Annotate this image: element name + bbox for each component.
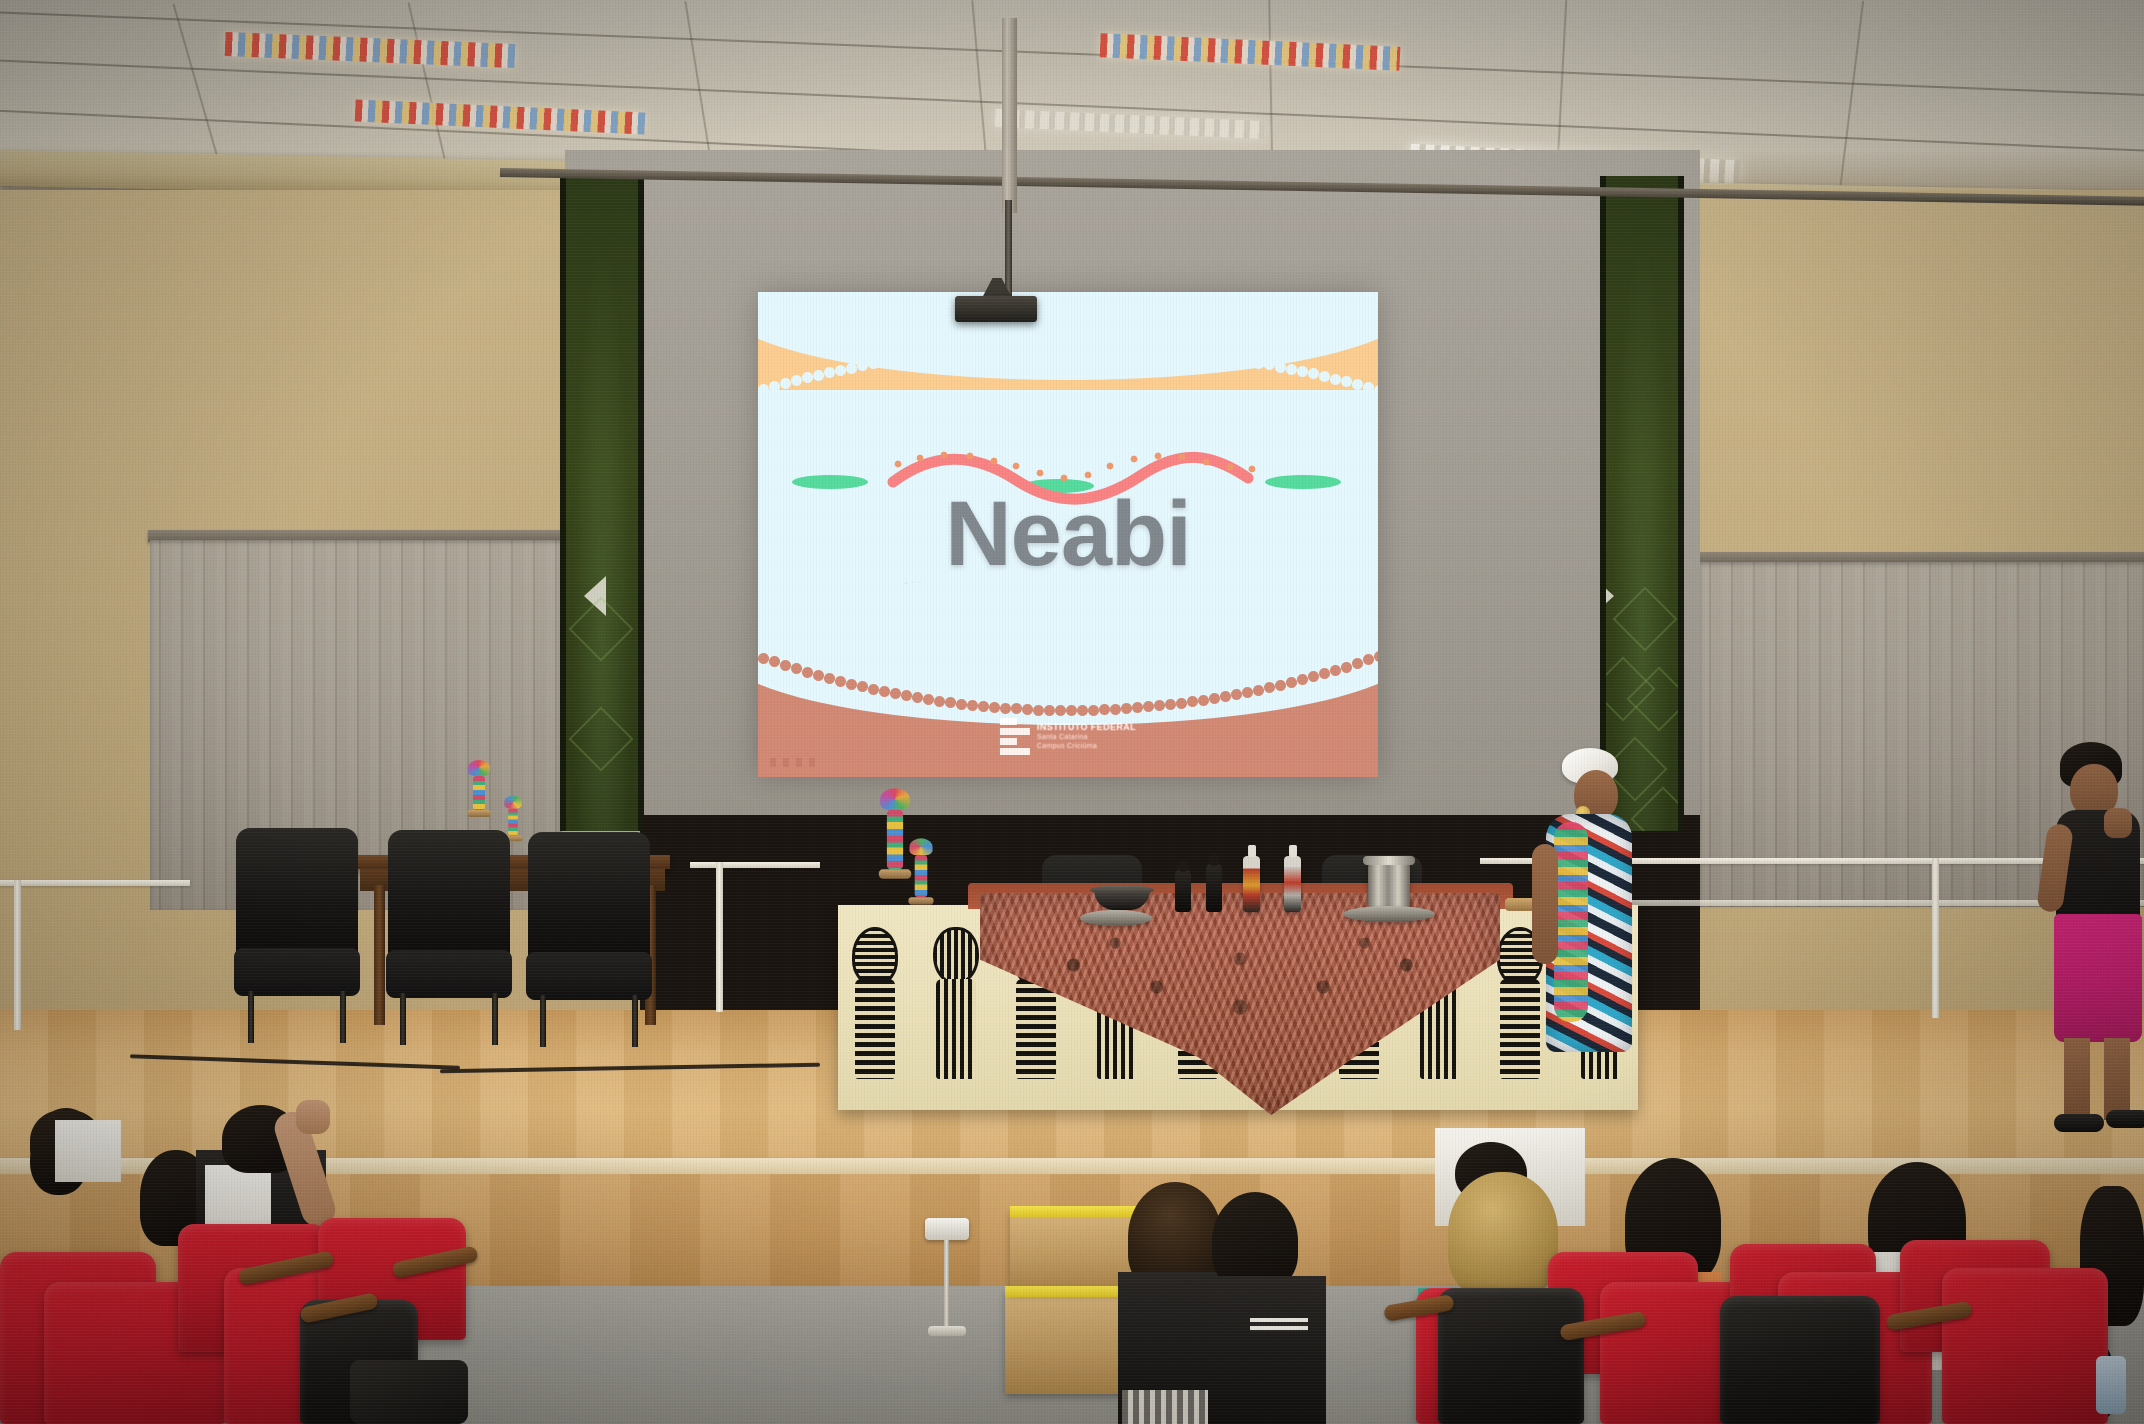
banner-left bbox=[560, 176, 644, 831]
beaded-figurine bbox=[466, 760, 492, 817]
interpreter-shoe bbox=[2106, 1110, 2144, 1128]
institution-logo: INSTITUTO FEDERAL Santa Catarina Campus … bbox=[1000, 718, 1136, 755]
floor-speaker-monitor bbox=[925, 1218, 969, 1240]
slide-top-scallop bbox=[758, 292, 1378, 412]
stage-railing-bar bbox=[690, 862, 820, 868]
person-interpreter bbox=[2020, 742, 2140, 1142]
stage-chair[interactable] bbox=[388, 830, 510, 1045]
stage-chair[interactable] bbox=[236, 828, 358, 1043]
interpreter-leg bbox=[2104, 1038, 2130, 1120]
presentation-slide: Neabi Núcleo de Estudos Afro-Brasileiros… bbox=[758, 292, 1378, 777]
ceiling-light-panel bbox=[225, 32, 516, 68]
stage-chair[interactable] bbox=[528, 832, 650, 1047]
ritual-bottle bbox=[1243, 856, 1260, 912]
banner-right bbox=[1600, 176, 1684, 831]
projection-screen: Neabi Núcleo de Estudos Afro-Brasileiros… bbox=[758, 292, 1378, 777]
audience-seat[interactable] bbox=[1942, 1268, 2108, 1424]
audience-shirt bbox=[1208, 1276, 1326, 1424]
audience-shirt bbox=[55, 1120, 121, 1182]
arrow-right-icon bbox=[1600, 576, 1614, 616]
figurine-statue bbox=[1175, 868, 1191, 912]
floor-monitor-pole bbox=[944, 1240, 949, 1328]
audience-seat-dark[interactable] bbox=[1720, 1296, 1880, 1424]
stage-railing-post bbox=[716, 862, 723, 1012]
floor-monitor-base bbox=[928, 1326, 966, 1336]
audience-hand bbox=[296, 1100, 330, 1134]
water-bottle bbox=[2096, 1356, 2126, 1414]
head-table bbox=[838, 905, 1638, 1110]
logo-line2: Santa Catarina bbox=[1037, 734, 1136, 741]
ceiling-light-panel bbox=[995, 109, 1266, 139]
stage-railing-bar bbox=[0, 880, 190, 886]
logo-bars-icon bbox=[1000, 718, 1030, 755]
camera-bag bbox=[350, 1360, 468, 1424]
slide-corner-marks bbox=[770, 758, 815, 767]
figurine-statue bbox=[1206, 862, 1222, 912]
interpreter-skirt bbox=[2054, 914, 2142, 1042]
projector-arm bbox=[1005, 200, 1012, 300]
metal-vessel bbox=[1368, 862, 1410, 910]
speaker-arm bbox=[1532, 844, 1558, 964]
serving-tray bbox=[1343, 906, 1435, 922]
side-table-leg bbox=[374, 885, 385, 1025]
ceremonial-figurine bbox=[907, 838, 934, 904]
interpreter-hand bbox=[2104, 808, 2132, 838]
stage-railing-post bbox=[1932, 858, 1939, 1018]
slide-bottom-scallop bbox=[758, 647, 1378, 777]
projector-body bbox=[955, 296, 1037, 322]
audience-seat-dark[interactable] bbox=[1438, 1288, 1584, 1424]
audience-sleeve-stripe bbox=[1250, 1318, 1308, 1332]
logo-line3: Campus Criciúma bbox=[1037, 743, 1136, 750]
audience-head bbox=[1448, 1172, 1558, 1298]
projector-pole bbox=[1002, 18, 1017, 213]
speaker-necklace bbox=[1554, 822, 1588, 1022]
interpreter-leg bbox=[2064, 1038, 2090, 1124]
person-speaker bbox=[1528, 748, 1640, 1078]
logo-institution: INSTITUTO FEDERAL bbox=[1037, 723, 1136, 732]
interpreter-shoe bbox=[2054, 1114, 2104, 1132]
stage-railing-post bbox=[14, 880, 21, 1030]
ceiling-light-panel bbox=[1100, 33, 1401, 71]
ritual-bottle bbox=[1284, 856, 1301, 912]
serving-tray bbox=[1080, 910, 1152, 926]
slide-title: Neabi bbox=[758, 488, 1378, 580]
auditorium-photo: Neabi Núcleo de Estudos Afro-Brasileiros… bbox=[0, 0, 2144, 1424]
